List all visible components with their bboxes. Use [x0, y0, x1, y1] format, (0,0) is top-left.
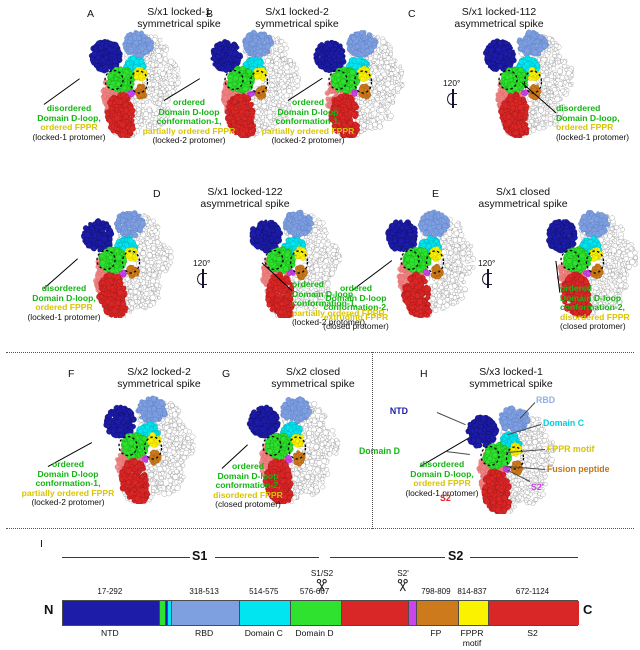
- structure-label-fusion-peptide: Fusion peptide: [547, 464, 610, 474]
- callout-line: (closed protomer): [192, 500, 304, 510]
- structure-label-domain-c: Domain C: [543, 418, 584, 428]
- residue-range-domaind: 576-667: [281, 587, 349, 596]
- twofold-lens-icon: [482, 273, 492, 285]
- rotation-angle-label: 120°: [478, 258, 495, 268]
- domain-segment-s2a: [341, 601, 408, 625]
- panel-letter-E: E: [432, 188, 439, 200]
- residue-range-fppr: 814-837: [438, 587, 506, 596]
- cleavage-label-s2prime: S2': [385, 569, 421, 578]
- panel-letter-B: B: [206, 8, 213, 20]
- figure-canvas: AS/x1 locked-1 symmetrical spikedisorder…: [0, 0, 640, 650]
- panel-letter-I: I: [40, 538, 43, 550]
- structure-label-s2: S2: [440, 493, 451, 503]
- divider-vertical: [372, 352, 373, 529]
- brace-label-s2: S2: [448, 549, 463, 563]
- structure-label-s2prime: S2': [531, 482, 544, 492]
- callout-A-1: disorderedDomain D-loop,ordered FPPR(loc…: [10, 104, 128, 142]
- divider-horizontal-bottom: [6, 528, 634, 529]
- brace-s2-right: [470, 557, 578, 558]
- callout-E-1: orderedDomain D-loopconformation-2,extru…: [304, 284, 408, 332]
- structure-label-fppr-motif: FPPR motif: [547, 444, 594, 454]
- panel-title-G: S/x2 closed symmetrical spike: [238, 366, 388, 390]
- divider-horizontal-top: [6, 352, 634, 353]
- cleavage-label-s1s2: S1/S2: [300, 569, 344, 578]
- residue-range-rbd: 318-513: [170, 587, 238, 596]
- panel-title-H: S/x3 locked-1 symmetrical spike: [436, 366, 586, 390]
- panel-letter-H: H: [420, 368, 428, 380]
- structure-label-domain-d: Domain D: [359, 446, 400, 456]
- callout-line: (locked-2 protomer): [252, 136, 364, 146]
- callout-G-1: orderedDomain D-loopconformation-2,disor…: [192, 462, 304, 510]
- rotation-symbol-C: 120°: [443, 78, 469, 112]
- panel-letter-F: F: [68, 368, 74, 380]
- callout-line: (locked-2 protomer): [12, 498, 124, 508]
- callout-C-1: orderedDomain D-loopconformation-1,parti…: [252, 98, 364, 146]
- domain-label-s2b: S2: [497, 629, 569, 639]
- domain-bar: [62, 600, 578, 626]
- domain-label-ntd: NTD: [74, 629, 146, 639]
- leader-line-A-1: [44, 78, 81, 105]
- domain-segment-fp: [416, 601, 458, 625]
- brace-s2-left: [330, 557, 445, 558]
- callout-line: (locked-2 protomer): [130, 136, 248, 146]
- callout-line: (locked-1 protomer): [10, 313, 118, 323]
- rotation-angle-label: 120°: [193, 258, 210, 268]
- domain-segment-ntd: [63, 601, 159, 625]
- panel-letter-A: A: [87, 8, 94, 20]
- brace-s1-right: [215, 557, 319, 558]
- callout-line: (locked-1 protomer): [556, 133, 640, 143]
- domain-label-domaind: Domain D: [279, 629, 351, 639]
- domain-segment-rbd: [171, 601, 240, 625]
- domain-segment-s2b: [488, 601, 579, 625]
- panel-letter-C: C: [408, 8, 416, 20]
- twofold-lens-icon: [197, 273, 207, 285]
- callout-C-2: disorderedDomain D-loop,ordered FPPR(loc…: [556, 104, 640, 142]
- panel-letter-G: G: [222, 368, 230, 380]
- callout-line: (closed protomer): [560, 322, 640, 332]
- panel-letter-D: D: [153, 188, 161, 200]
- terminus-c: C: [583, 602, 592, 617]
- domain-segment-domaind: [290, 601, 341, 625]
- rotation-symbol-D: 120°: [193, 258, 219, 292]
- residue-range-ntd: 17-292: [76, 587, 144, 596]
- domain-segment-s2prime: [408, 601, 416, 625]
- callout-line: (locked-1 protomer): [10, 133, 128, 143]
- callout-B-1: orderedDomain D-loopconformation-1,parti…: [130, 98, 248, 146]
- brace-label-s1: S1: [192, 549, 207, 563]
- twofold-lens-icon: [447, 93, 457, 105]
- domain-segment-fppr: [458, 601, 488, 625]
- terminus-n: N: [44, 602, 53, 617]
- rotation-symbol-E: 120°: [478, 258, 504, 292]
- callout-D-1: disorderedDomain D-loop,ordered FPPR(loc…: [10, 284, 118, 322]
- residue-range-s2b: 672-1124: [499, 587, 567, 596]
- callout-line: (closed protomer): [304, 322, 408, 332]
- callout-E-2: orderedDomain D-loopconformation-2,disor…: [560, 284, 640, 332]
- panel-title-F: S/x2 locked-2 symmetrical spike: [84, 366, 234, 390]
- panel-I-domain-diagram: I S1 S2 S1/S2 S2' N C 17-292NTD318-513RB…: [0, 530, 640, 650]
- rotation-angle-label: 120°: [443, 78, 460, 88]
- structure-label-ntd: NTD: [390, 406, 408, 416]
- callout-F-1: orderedDomain D-loopconformation-1,parti…: [12, 460, 124, 508]
- brace-s1-left: [62, 557, 190, 558]
- structure-label-rbd: RBD: [536, 395, 555, 405]
- domain-segment-domainc: [239, 601, 290, 625]
